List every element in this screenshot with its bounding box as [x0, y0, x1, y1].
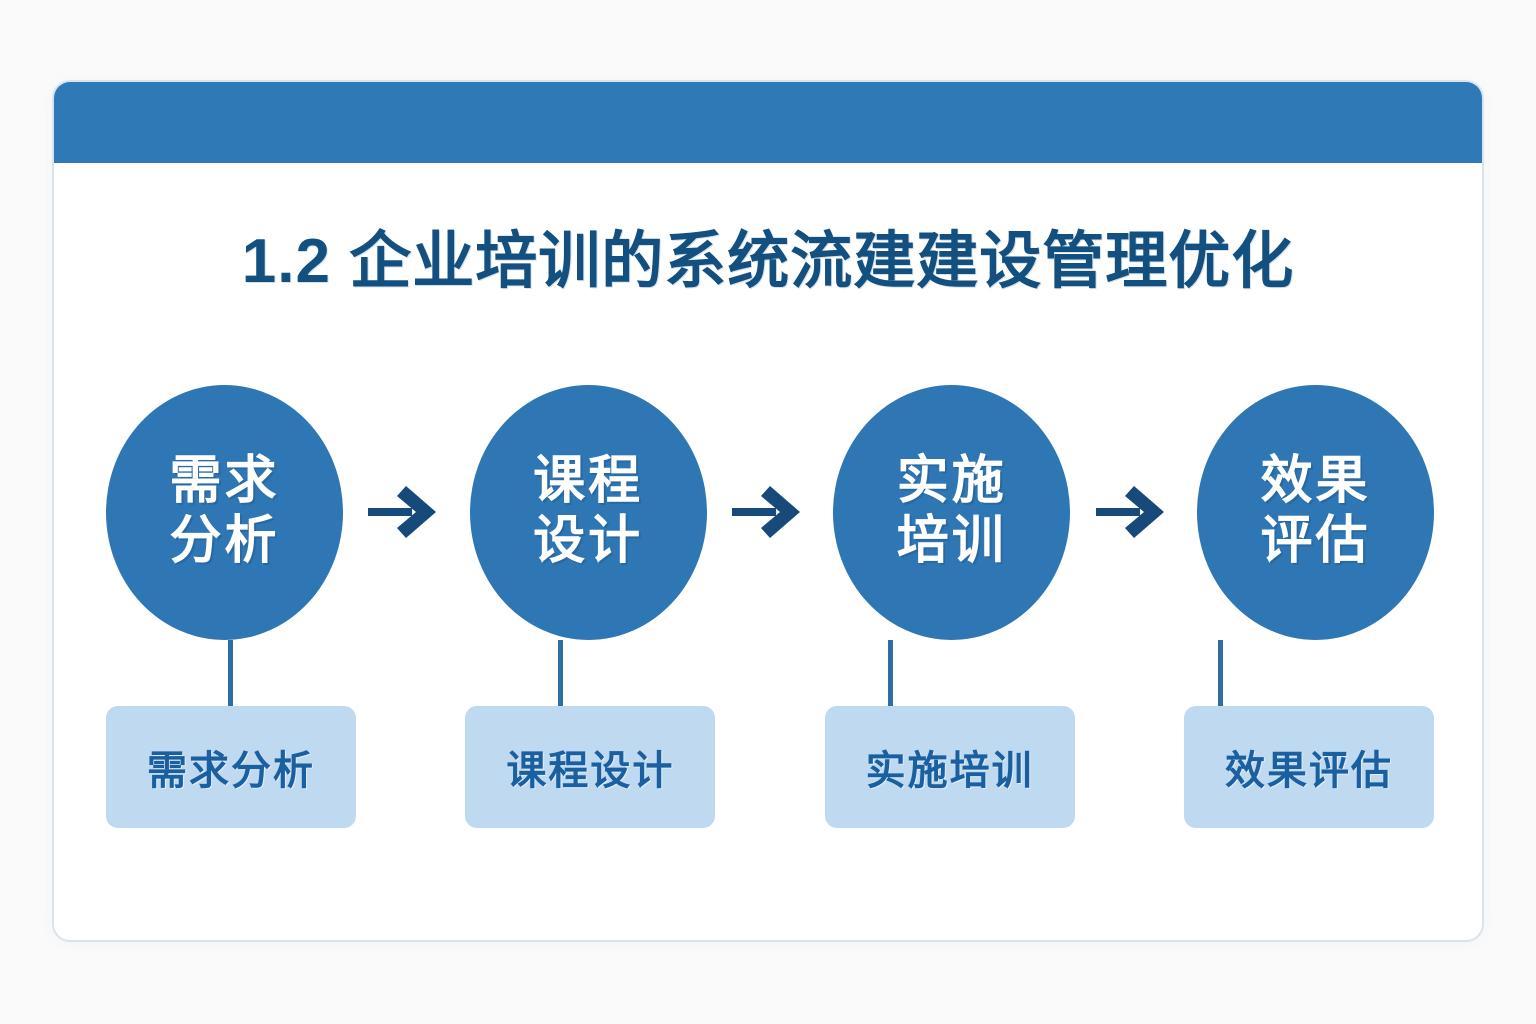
flow-label-box-1[interactable]: 需求分析	[106, 706, 356, 828]
flow-node-2[interactable]: 课程 设计	[470, 385, 707, 640]
connector-line-2	[558, 640, 563, 706]
process-flow-diagram: 需求 分析 课程 设计 实施 培训	[54, 382, 1482, 852]
flow-node-3-line1: 实施	[897, 452, 1007, 512]
slide-card: 1.2 企业培训的系统流建建设管理优化 需求 分析 课程 设计	[52, 80, 1484, 942]
flow-label-box-2[interactable]: 课程设计	[465, 706, 715, 828]
page-title: 1.2 企业培训的系统流建建设管理优化	[54, 210, 1482, 300]
flow-node-1-line1: 需求	[169, 452, 279, 512]
right-arrow-icon-1	[363, 477, 449, 547]
flow-label-3: 实施培训	[866, 738, 1034, 796]
flow-label-4: 效果评估	[1225, 738, 1393, 796]
flow-node-3[interactable]: 实施 培训	[833, 385, 1070, 640]
flow-label-row: 需求分析 课程设计 实施培训 效果评估	[106, 706, 1434, 828]
flow-label-box-4[interactable]: 效果评估	[1184, 706, 1434, 828]
flow-node-1[interactable]: 需求 分析	[106, 385, 343, 640]
flow-node-4-line2: 评估	[1260, 512, 1370, 572]
header-bar	[54, 82, 1482, 163]
flow-label-box-3[interactable]: 实施培训	[825, 706, 1075, 828]
flow-node-4[interactable]: 效果 评估	[1197, 385, 1434, 640]
connector-line-1	[228, 640, 233, 706]
flow-node-row: 需求 分析 课程 设计 实施 培训	[106, 382, 1434, 642]
flow-node-4-line1: 效果	[1260, 452, 1370, 512]
flow-node-2-line1: 课程	[533, 452, 643, 512]
flow-node-2-line2: 设计	[533, 512, 643, 572]
connector-line-4	[1218, 640, 1223, 706]
right-arrow-icon-2	[727, 477, 813, 547]
flow-label-1: 需求分析	[147, 738, 315, 796]
flow-node-3-line2: 培训	[897, 512, 1007, 572]
connector-line-3	[888, 640, 893, 706]
flow-label-2: 课程设计	[506, 738, 674, 796]
right-arrow-icon-3	[1091, 477, 1177, 547]
flow-node-1-line2: 分析	[169, 512, 279, 572]
